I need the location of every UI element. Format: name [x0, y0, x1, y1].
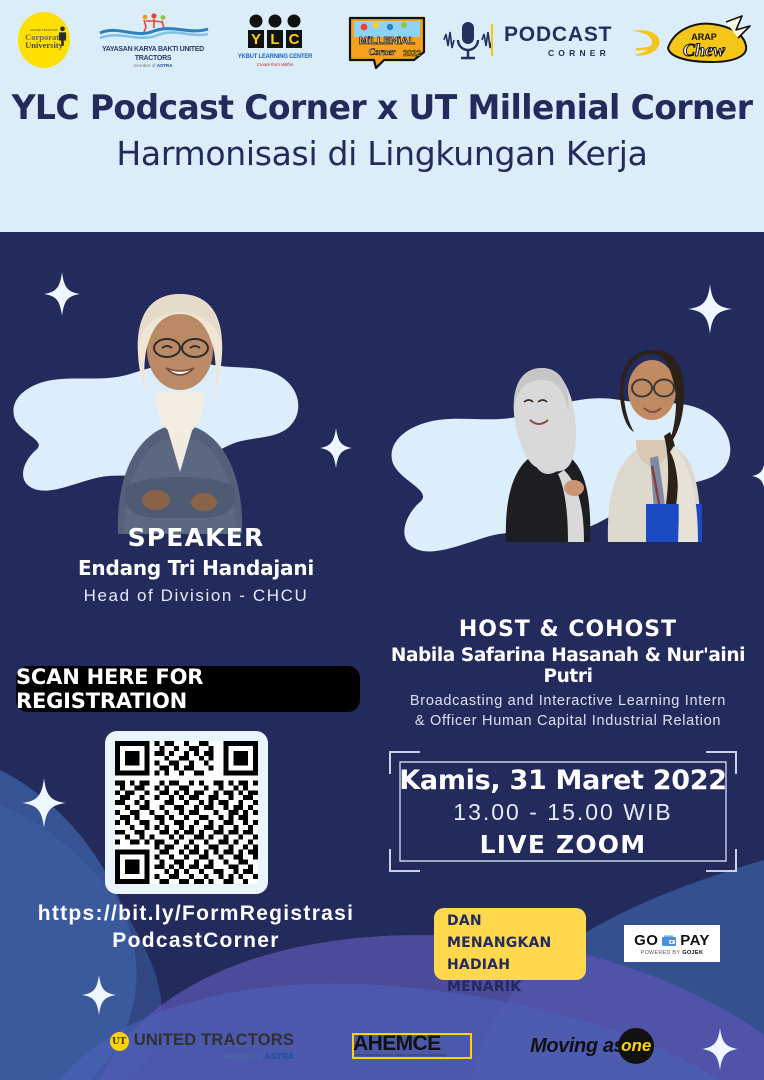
poster-subtitle: Harmonisasi di Lingkungan Kerja	[0, 134, 764, 173]
arap-chew-badge-icon: ARAP Chew	[664, 12, 752, 68]
scan-banner-label: SCAN HERE FOR REGISTRATION	[16, 665, 360, 713]
svg-text:Corner: Corner	[369, 47, 396, 57]
person-icon	[58, 26, 67, 46]
speaker-name: Endang Tri Handajani	[0, 556, 392, 580]
prize-badge: IKUTI ACARANYA DAN MENANGKAN HADIAH MENA…	[434, 908, 586, 980]
wave-people-icon	[88, 13, 218, 39]
speaker-portrait	[80, 272, 280, 534]
event-poster: UNITED TRACTORS Corporate University	[0, 0, 764, 1080]
host-names: Nabila Safarina Hasanah & Nur'aini Putri	[372, 645, 764, 687]
url-line1: https://bit.ly/FormRegistrasi	[0, 900, 392, 927]
ykb-sub-prefix: member of	[133, 63, 155, 68]
logo-corporate-university: UNITED TRACTORS Corporate University	[14, 12, 74, 68]
event-platform: LIVE ZOOM	[480, 830, 647, 859]
registration-qr-code[interactable]	[105, 731, 268, 894]
sparkle-icon	[752, 460, 764, 492]
logo-ahemce: AHEMCE Astra Heavy Equipment, Mining Con…	[352, 1033, 472, 1059]
ut-sub-brand: ASTRA	[264, 1051, 294, 1061]
registration-url[interactable]: https://bit.ly/FormRegistrasi PodcastCor…	[0, 900, 392, 955]
gopay-logo: GO PAY POWERED BY GOJEK	[624, 925, 720, 962]
sparkle-icon	[320, 428, 352, 468]
ut-mark: UT	[112, 1036, 126, 1047]
speaker-label: SPEAKER	[0, 523, 392, 552]
logo-moving-as-one: Moving as one	[530, 1028, 654, 1064]
event-time: 13.00 - 15.00 WIB	[453, 799, 672, 826]
poster-title: YLC Podcast Corner x UT Millenial Corner	[11, 88, 752, 128]
logo-yayasan-karya-bakti: YAYASAN KARYA BAKTI UNITED TRACTORS memb…	[88, 13, 218, 68]
host-portrait-nabila	[480, 352, 604, 542]
svg-text:Chew: Chew	[683, 40, 726, 60]
url-line2: PodcastCorner	[0, 927, 392, 954]
prize-line3: HADIAH MENARIK	[447, 955, 586, 998]
logo-podcast-corner: PODCAST CORNER	[504, 23, 654, 58]
event-date: Kamis, 31 Maret 2022	[399, 765, 726, 796]
speaker-info-block: SPEAKER Endang Tri Handajani Head of Div…	[0, 523, 392, 606]
wallet-icon	[661, 934, 677, 947]
prize-line1: IKUTI ACARANYA	[447, 890, 586, 912]
title-block: YLC Podcast Corner x UT Millenial Corner…	[0, 88, 764, 173]
host-label: HOST & COHOST	[372, 617, 764, 642]
three-people-icon: Y L C	[232, 14, 318, 48]
ylc-tagline: Create from Within	[232, 62, 318, 67]
host-role-line2: & Officer Human Capital Industrial Relat…	[372, 712, 764, 732]
ut-sub-prefix: member of	[221, 1051, 262, 1061]
host-info-block: HOST & COHOST Nabila Safarina Hasanah & …	[372, 617, 764, 731]
logo-united-tractors: UT UNITED TRACTORS member of ASTRA	[110, 1031, 294, 1061]
sparkle-icon	[82, 975, 116, 1015]
svg-text:L: L	[270, 31, 279, 48]
host-portrait-nuraini	[590, 336, 708, 542]
header-logo-row: UNITED TRACTORS Corporate University	[0, 0, 764, 80]
prize-line2: DAN MENANGKAN	[447, 911, 586, 954]
moving-circle-word: one	[621, 1036, 651, 1056]
qr-code-image	[115, 741, 258, 884]
ahemce-tagline: Astra Heavy Equipment, Mining Constructi…	[355, 1053, 446, 1057]
gopay-pay: PAY	[680, 932, 710, 949]
logo-ylc: Y L C YKBUT LEARNING CENTER Create from …	[232, 14, 318, 67]
svg-text:C: C	[289, 31, 300, 48]
gopay-powered: POWERED BY	[641, 950, 681, 956]
svg-text:MiLLENiAL: MiLLENiAL	[359, 35, 416, 47]
microphone-waveform-icon	[442, 16, 494, 64]
speaker-role: Head of Division - CHCU	[0, 586, 392, 606]
cloud-scallop-divider	[0, 185, 764, 245]
ykb-sub-brand: ASTRA	[157, 63, 173, 68]
host-role-line1: Broadcasting and Interactive Learning In…	[372, 692, 764, 712]
sparkle-icon	[688, 284, 732, 334]
event-details-frame: Kamis, 31 Maret 2022 13.00 - 15.00 WIB L…	[382, 744, 744, 879]
scan-registration-banner[interactable]: SCAN HERE FOR REGISTRATION	[16, 666, 360, 712]
millenial-corner-badge-icon: MiLLENiAL Corner 2022	[342, 10, 432, 70]
gopay-go: GO	[634, 932, 658, 949]
ykb-name: YAYASAN KARYA BAKTI UNITED TRACTORS	[93, 44, 213, 62]
svg-text:Y: Y	[251, 31, 261, 48]
ylc-name: YKBUT LEARNING CENTER	[234, 53, 316, 60]
gopay-brand: GOJEK	[682, 950, 703, 956]
moving-words: Moving as	[530, 1035, 624, 1058]
sparkle-icon	[22, 778, 66, 828]
swoosh-icon	[628, 25, 668, 59]
footer-logo-row: UT UNITED TRACTORS member of ASTRA AHEMC…	[0, 1016, 764, 1076]
svg-text:2022: 2022	[403, 49, 421, 58]
sparkle-icon	[44, 272, 80, 316]
ut-name: UNITED TRACTORS	[134, 1031, 294, 1050]
